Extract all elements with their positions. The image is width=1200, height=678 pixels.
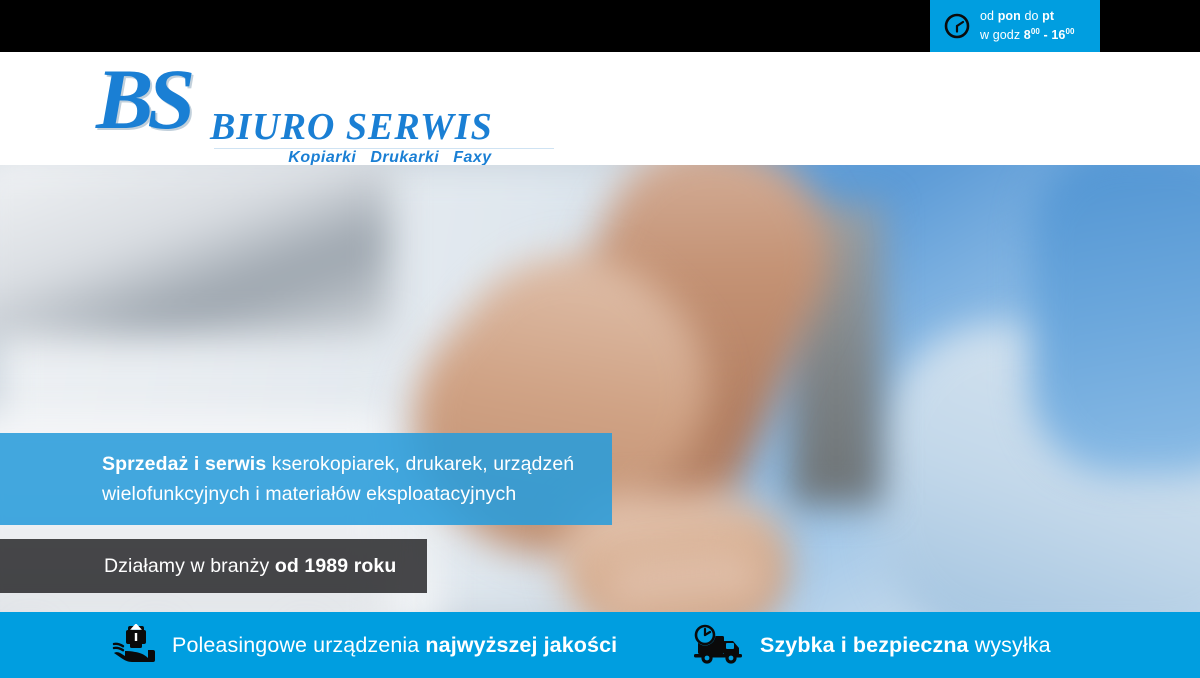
opening-hours-box: od pon do pt w godz 800 - 1600	[930, 0, 1100, 52]
hours-time-to: 16	[1051, 29, 1065, 43]
feature-item-shipping: Szybka i bezpieczna wysyłka	[690, 624, 1051, 666]
hero-banner-secondary: Działamy w branży od 1989 roku	[0, 539, 427, 593]
logo-monogram: BS	[96, 56, 189, 142]
opening-hours-line-2: w godz 800 - 1600	[980, 24, 1075, 43]
opening-hours-text: od pon do pt w godz 800 - 1600	[980, 8, 1075, 43]
hero-banner-primary: Sprzedaż i serwis kserokopiarek, drukare…	[0, 433, 612, 525]
hero-section: Sprzedaż i serwis kserokopiarek, drukare…	[0, 165, 1200, 612]
hours-time-to-sup: 00	[1065, 27, 1074, 36]
feature-shipping-bold: Szybka i bezpieczna	[760, 633, 969, 657]
hero-banner-secondary-bold: od 1989 roku	[275, 555, 397, 577]
hero-banner-secondary-prefix: Działamy w branży	[104, 555, 275, 577]
hours-dash: -	[1040, 29, 1051, 43]
logo-tagline-item-2: Faxy	[453, 149, 491, 166]
page-root: od pon do pt w godz 800 - 1600 BS BIURO …	[0, 0, 1200, 678]
top-bar: od pon do pt w godz 800 - 1600	[0, 0, 1200, 52]
hours-day-from: pon	[998, 9, 1021, 23]
feature-bar: Poleasingowe urządzenia najwyższej jakoś…	[0, 612, 1200, 678]
feature-item-quality: Poleasingowe urządzenia najwyższej jakoś…	[112, 624, 617, 666]
hero-banner-primary-text: Sprzedaż i serwis kserokopiarek, drukare…	[0, 449, 612, 509]
hours-mid: do	[1021, 9, 1042, 23]
feature-shipping-suffix: wysyłka	[969, 633, 1051, 657]
logo-tagline-item-1: Drukarki	[370, 149, 439, 166]
opening-hours-line-1: od pon do pt	[980, 8, 1075, 24]
logo-tagline-item-0: Kopiarki	[288, 149, 356, 166]
clock-icon	[944, 13, 970, 39]
hours-prefix: od	[980, 9, 998, 23]
hours-day-to: pt	[1042, 9, 1054, 23]
hero-banner-primary-bold: Sprzedaż i serwis	[102, 453, 266, 475]
feature-shipping-text: Szybka i bezpieczna wysyłka	[760, 633, 1051, 658]
feature-quality-prefix: Poleasingowe urządzenia	[172, 633, 425, 657]
hero-banner-secondary-text: Działamy w branży od 1989 roku	[0, 555, 396, 578]
feature-quality-bold: najwyższej jakości	[425, 633, 617, 657]
hours-time-from: 8	[1024, 29, 1031, 43]
site-header: BS BIURO SERWIS KopiarkiDrukarkiFaxy	[0, 52, 1200, 165]
hand-package-icon	[112, 624, 158, 666]
feature-quality-text: Poleasingowe urządzenia najwyższej jakoś…	[172, 633, 617, 658]
logo-wordmark: BIURO SERWIS	[210, 108, 493, 146]
truck-clock-icon	[690, 624, 746, 666]
site-logo[interactable]: BS BIURO SERWIS KopiarkiDrukarkiFaxy	[96, 56, 556, 164]
hours-time-prefix: w godz	[980, 29, 1024, 43]
hours-time-from-sup: 00	[1031, 27, 1040, 36]
